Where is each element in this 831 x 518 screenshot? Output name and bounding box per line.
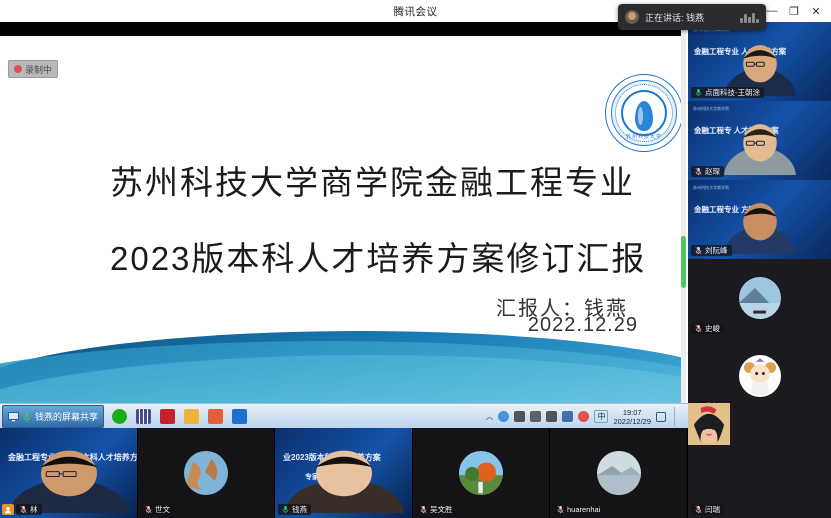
participant-nametag: 世文 — [141, 504, 174, 515]
microphone-icon — [145, 505, 152, 514]
close-button[interactable]: ✕ — [805, 0, 827, 22]
participant-video-figure — [721, 192, 799, 254]
sync-icon[interactable] — [498, 411, 509, 422]
university-logo-icon: 苏州科技大学 — [605, 74, 683, 152]
clock-time: 19:07 — [613, 408, 651, 417]
notification-icon[interactable] — [656, 412, 666, 422]
microphone-icon — [20, 505, 27, 514]
logo-chinese-text: 苏州科技大学 — [606, 133, 682, 140]
slide-wave-decoration — [0, 331, 688, 403]
windows-taskbar[interactable]: 钱燕的屏幕共享 ︿ 中 19:07 2022/12/29 — [0, 403, 688, 429]
participant-name: 吴文胜 — [430, 504, 453, 515]
avatar-image — [459, 451, 503, 495]
tile-bg-header: 苏州科技大学商学院 — [693, 106, 729, 112]
participant-avatar — [184, 451, 228, 495]
microphone-icon — [282, 505, 289, 514]
rail-participant-tile[interactable]: 苏州科技大学商学院金融工程专 人才培养方案赵琛 — [688, 101, 831, 180]
microphone-icon — [695, 88, 702, 97]
shared-screen-stage[interactable]: 苏州科技大学 苏州科技大学商学院金融工程专业 2023版本科人才培养方案修订汇报… — [0, 22, 688, 403]
participant-nametag: 刘阮峰 — [691, 245, 732, 256]
participant-avatar — [597, 451, 641, 495]
share-top-bar — [0, 22, 688, 36]
participant-name: 史峻 — [705, 323, 720, 334]
participant-nametag: 钱燕 — [278, 504, 311, 515]
participant-avatar — [739, 277, 781, 319]
rail-participant-tile[interactable]: 裴树婷 — [688, 337, 831, 403]
window-controls: — ❐ ✕ — [761, 0, 827, 22]
screen-share-taskbar-button[interactable]: 钱燕的屏幕共享 — [2, 405, 104, 428]
clock[interactable]: 19:07 2022/12/29 — [613, 408, 651, 426]
ime-indicator[interactable]: 中 — [594, 410, 608, 423]
filmstrip-participant-tile[interactable]: 吴文胜 — [413, 428, 550, 518]
bluetooth-icon[interactable] — [562, 411, 573, 422]
participant-avatar — [739, 355, 781, 397]
clock-date: 2022/12/29 — [613, 417, 651, 426]
recording-indicator[interactable]: 录制中 — [8, 60, 58, 78]
participant-video-figure — [4, 437, 134, 513]
participant-nametag: 赵琛 — [691, 166, 724, 177]
participant-filmstrip[interactable]: 金融工程专业2023版本科人才培养方案林世文业2023版本科人才培养方案专家论证… — [0, 428, 688, 518]
host-badge-icon — [2, 504, 14, 515]
battery-icon[interactable] — [514, 411, 525, 422]
rail-participant-tile[interactable]: 史峻 — [688, 259, 831, 337]
speaker-avatar — [625, 10, 639, 24]
pdf-reader-icon[interactable] — [160, 409, 175, 424]
participant-rail[interactable]: 苏州科技大学商学院金融工程专业 人才培养方案点面科技-王朝涂苏州科技大学商学院金… — [688, 22, 831, 403]
filmstrip-participant-tile[interactable]: 世文 — [138, 428, 275, 518]
taskbar-app-icons[interactable] — [112, 409, 247, 424]
show-desktop-button[interactable] — [674, 407, 682, 426]
participant-nametag: 闫瑞 — [691, 504, 724, 515]
participant-rail-overflow[interactable]: 闫瑞 — [688, 403, 831, 518]
file-explorer-icon[interactable] — [184, 409, 199, 424]
avatar-image — [597, 451, 641, 495]
participant-avatar — [688, 432, 730, 449]
participant-video-figure — [721, 113, 799, 175]
rail-participant-tile[interactable]: 闫瑞 — [688, 403, 831, 481]
wechat-work-icon[interactable] — [208, 409, 223, 424]
microphone-icon — [695, 505, 702, 514]
participant-rail-scrollbar[interactable] — [681, 22, 686, 403]
monitor-icon — [8, 412, 19, 422]
participant-name: 林 — [30, 504, 38, 515]
browser-icon[interactable] — [578, 411, 589, 422]
network-icon[interactable] — [530, 411, 541, 422]
presentation-slide: 苏州科技大学 苏州科技大学商学院金融工程专业 2023版本科人才培养方案修订汇报… — [0, 36, 688, 403]
participant-name: 闫瑞 — [705, 504, 720, 515]
volume-icon[interactable] — [546, 411, 557, 422]
microphone-icon — [695, 246, 702, 255]
avatar-image — [184, 451, 228, 495]
participant-figure — [721, 113, 799, 180]
participant-nametag: huarenhai — [553, 504, 604, 515]
tray-chevron-icon[interactable]: ︿ — [485, 411, 493, 422]
participant-nametag: 点面科技-王朝涂 — [691, 87, 764, 98]
slide-title: 苏州科技大学商学院金融工程专业 — [110, 156, 610, 204]
maximize-button[interactable]: ❐ — [783, 0, 805, 22]
participant-avatar — [459, 451, 503, 495]
app-title: 腾讯会议 — [394, 4, 438, 19]
tray-icons[interactable] — [498, 411, 589, 422]
tile-bg-header: 苏州科技大学商学院 — [693, 185, 729, 191]
participant-nametag: 吴文胜 — [416, 504, 457, 515]
microphone-icon — [22, 411, 32, 422]
calculator-icon[interactable] — [136, 409, 151, 424]
participant-name: 点面科技-王朝涂 — [705, 87, 760, 98]
recording-label: 录制中 — [25, 63, 52, 76]
participant-video-figure — [279, 437, 409, 513]
system-tray[interactable]: ︿ 中 19:07 2022/12/29 — [485, 407, 688, 426]
participant-nametag: 史峻 — [691, 323, 724, 334]
scrollbar-thumb[interactable] — [681, 236, 686, 288]
active-speaker-label: 正在讲话: 钱燕 — [645, 11, 704, 24]
microphone-icon — [695, 324, 702, 333]
microphone-icon — [695, 167, 702, 176]
participant-name: 世文 — [155, 504, 170, 515]
rail-participant-tile[interactable]: 苏州科技大学商学院金融工程专业 人才培养方案点面科技-王朝涂 — [688, 22, 831, 101]
filmstrip-participant-tile[interactable]: 业2023版本科人才培养方案专家论证会2022年12月29日钱燕 — [275, 428, 413, 518]
audio-waveform-icon — [740, 11, 759, 23]
participant-name: 赵琛 — [705, 166, 720, 177]
slide-subtitle: 2023版本科人才培养方案修订汇报 — [110, 232, 630, 280]
recording-dot-icon — [14, 65, 22, 73]
avatar-image — [739, 355, 781, 397]
microphone-icon — [420, 505, 427, 514]
media-player-icon[interactable] — [232, 409, 247, 424]
avatar-image — [688, 432, 730, 445]
rail-participant-tile[interactable]: 苏州科技大学商学院金融工程专业 方案刘阮峰 — [688, 180, 831, 259]
filmstrip-participant-tile[interactable]: huarenhai — [550, 428, 688, 518]
tencent-meeting-icon[interactable] — [112, 409, 127, 424]
participant-figure — [721, 192, 799, 259]
microphone-icon — [557, 505, 564, 514]
tencent-meeting-window: 腾讯会议 — ❐ ✕ 正在讲话: 钱燕 苏州科技大学 苏州科技大学商学院金融工程… — [0, 0, 831, 518]
filmstrip-participant-tile[interactable]: 金融工程专业2023版本科人才培养方案林 — [0, 428, 138, 518]
participant-name: 钱燕 — [292, 504, 307, 515]
screen-share-label: 钱燕的屏幕共享 — [35, 410, 98, 423]
participant-name: huarenhai — [567, 505, 600, 514]
participant-name: 刘阮峰 — [705, 245, 728, 256]
active-speaker-toast: 正在讲话: 钱燕 — [618, 4, 766, 30]
participant-nametag: 林 — [16, 504, 42, 515]
avatar-image — [739, 277, 781, 319]
